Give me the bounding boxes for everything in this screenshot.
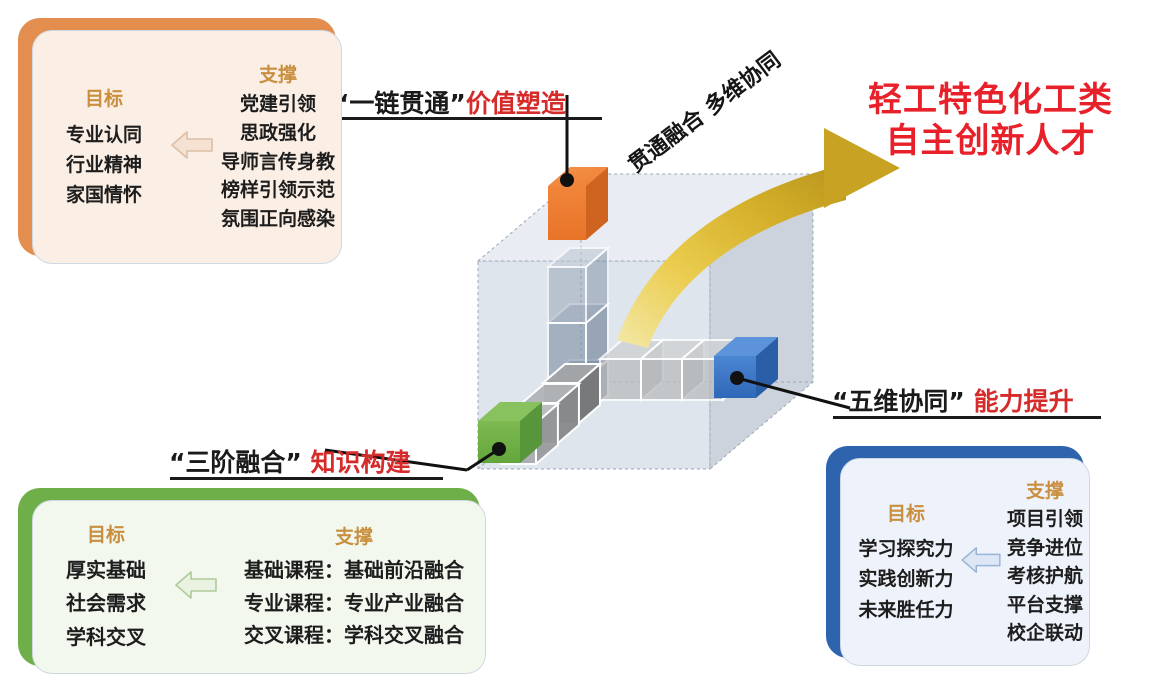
- diagram-canvas: 轻工特色化工类 自主创新人才 贯通融合 多维协同 “一链贯通”价值塑造 “三阶融…: [0, 0, 1162, 692]
- panel-blue-support-header: 支撑: [1000, 476, 1090, 503]
- panel-orange-goal-header: 目标: [38, 84, 170, 111]
- curve-arrow-label: 贯通融合 多维协同: [620, 43, 786, 179]
- main-title-line1: 轻工特色化工类: [868, 80, 1113, 121]
- list-item: 校企联动: [1000, 619, 1090, 648]
- panel-blue-content: 目标 学习探究力 实践创新力 未来胜任力 支撑 项目引领 竞争进位 考核护航 平…: [840, 458, 1090, 666]
- green-cube: [478, 402, 542, 463]
- callout-right-highlight: 能力提升: [974, 387, 1074, 416]
- callout-top-quoted: “一链贯通”: [333, 89, 466, 118]
- callout-bl-quoted: “三阶融合”: [169, 448, 302, 477]
- main-title: 轻工特色化工类 自主创新人才: [868, 80, 1113, 163]
- list-item: 学习探究力: [844, 534, 968, 564]
- list-item: 实践创新力: [844, 564, 968, 594]
- panel-green[interactable]: 目标 厚实基础 社会需求 学科交叉 支撑 基础课程：基础前沿融合 专业课程：专业…: [18, 488, 480, 666]
- panel-blue-goal-col: 目标 学习探究力 实践创新力 未来胜任力: [840, 499, 968, 624]
- callout-top-highlight: 价值塑造: [466, 89, 566, 118]
- callout-top-rule: [334, 117, 602, 120]
- list-item: 项目引领: [1000, 505, 1090, 534]
- panel-orange[interactable]: 目标 专业认同 行业精神 家国情怀 支撑 党建引领 思政强化 导师言传身教 榜样…: [18, 18, 336, 256]
- list-item: 未来胜任力: [844, 595, 968, 625]
- list-item: 专业认同: [38, 120, 170, 150]
- left-block-arrow-icon: [170, 128, 214, 166]
- list-item: 氛围正向感染: [214, 205, 342, 234]
- left-block-arrow-icon: [174, 568, 222, 606]
- panel-orange-support-col: 支撑 党建引领 思政强化 导师言传身教 榜样引领示范 氛围正向感染: [214, 60, 342, 234]
- callout-right: “五维协同” 能力提升: [832, 382, 1074, 418]
- panel-green-support-header: 支撑: [222, 522, 486, 549]
- callout-right-rule: [833, 416, 1101, 419]
- list-item: 厚实基础: [38, 554, 174, 588]
- panel-green-support-col: 支撑 基础课程：基础前沿融合 专业课程：专业产业融合 交叉课程：学科交叉融合: [222, 522, 486, 651]
- list-item: 学科交叉: [38, 621, 174, 655]
- callout-top: “一链贯通”价值塑造: [333, 84, 566, 120]
- list-item: 社会需求: [38, 587, 174, 621]
- blue-cube: [714, 337, 778, 398]
- list-item: 党建引领: [214, 90, 342, 119]
- orange-cube: [548, 167, 608, 240]
- panel-green-goal-header: 目标: [38, 520, 174, 547]
- list-item: 基础课程：基础前沿融合: [222, 554, 486, 586]
- panel-blue[interactable]: 目标 学习探究力 实践创新力 未来胜任力 支撑 项目引领 竞争进位 考核护航 平…: [826, 446, 1084, 658]
- callout-right-quoted: “五维协同”: [832, 387, 965, 416]
- list-item: 竞争进位: [1000, 534, 1090, 563]
- list-item: 专业课程：专业产业融合: [222, 587, 486, 619]
- list-item: 榜样引领示范: [214, 176, 342, 205]
- panel-green-content: 目标 厚实基础 社会需求 学科交叉 支撑 基础课程：基础前沿融合 专业课程：专业…: [32, 500, 486, 674]
- left-block-arrow-icon: [960, 544, 1000, 580]
- callout-bottom-left: “三阶融合” 知识构建: [169, 443, 411, 479]
- list-item: 行业精神: [38, 150, 170, 180]
- panel-blue-goal-header: 目标: [844, 499, 968, 526]
- list-item: 平台支撑: [1000, 591, 1090, 620]
- panel-orange-content: 目标 专业认同 行业精神 家国情怀 支撑 党建引领 思政强化 导师言传身教 榜样…: [32, 30, 342, 264]
- callout-bl-rule: [170, 477, 443, 480]
- list-item: 交叉课程：学科交叉融合: [222, 619, 486, 651]
- panel-blue-support-col: 支撑 项目引领 竞争进位 考核护航 平台支撑 校企联动: [1000, 476, 1090, 648]
- panel-orange-goal-col: 目标 专业认同 行业精神 家国情怀: [32, 84, 170, 210]
- panel-green-goal-col: 目标 厚实基础 社会需求 学科交叉: [32, 520, 174, 655]
- list-item: 考核护航: [1000, 562, 1090, 591]
- main-title-line2: 自主创新人才: [868, 121, 1113, 162]
- list-item: 思政强化: [214, 119, 342, 148]
- callout-bl-highlight: 知识构建: [311, 448, 411, 477]
- list-item: 导师言传身教: [214, 148, 342, 177]
- panel-orange-support-header: 支撑: [214, 60, 342, 87]
- list-item: 家国情怀: [38, 180, 170, 210]
